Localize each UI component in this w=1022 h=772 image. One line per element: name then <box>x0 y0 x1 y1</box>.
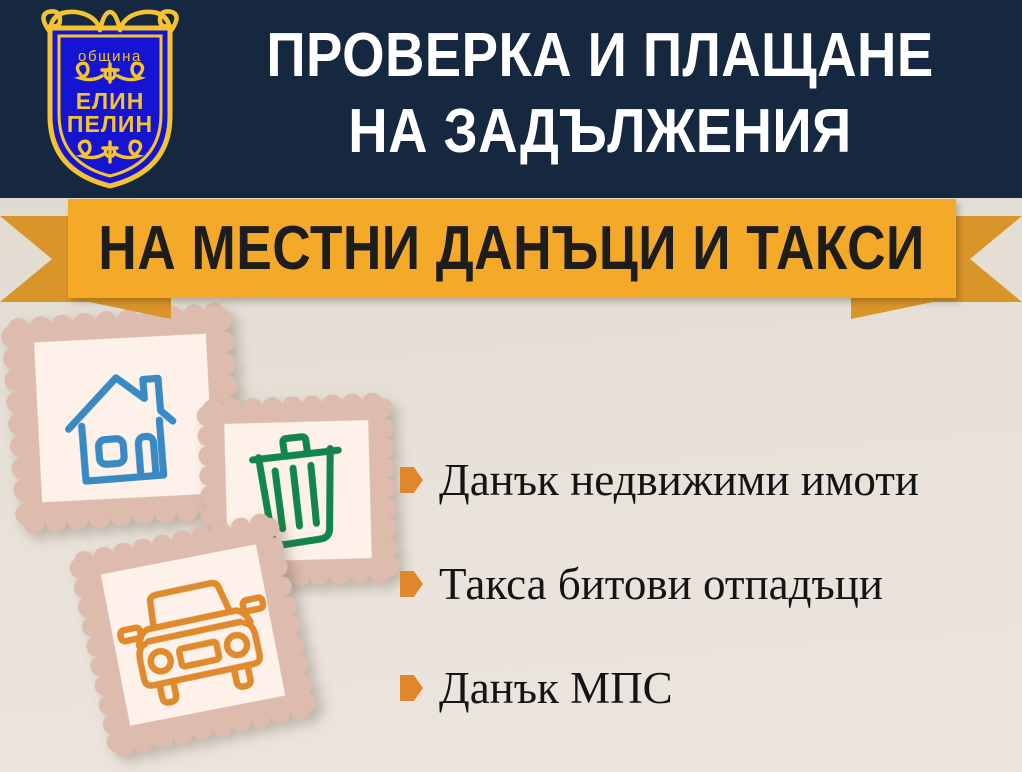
subtitle-ribbon: НА МЕСТНИ ДАНЪЦИ И ТАКСИ <box>0 196 1022 306</box>
tax-list-item-label: Данък недвижими имоти <box>439 454 919 506</box>
coat-of-arms: община ЕЛИН ПЕЛИН <box>30 6 190 191</box>
crest-name-line2: ПЕЛИН <box>67 111 153 137</box>
page-title: ПРОВЕРКА И ПЛАЩАНЕ НА ЗАДЪЛЖЕНИЯ <box>239 18 961 170</box>
stamp-card-car <box>67 510 320 760</box>
tax-list: Данък недвижими имоти Такса битови отпад… <box>400 428 1010 740</box>
arrow-bullet-icon <box>400 675 423 701</box>
tax-list-item-label: Данък МПС <box>439 662 673 714</box>
tax-list-item-waste[interactable]: Такса битови отпадъци <box>400 532 1010 636</box>
ribbon-label: НА МЕСТНИ ДАНЪЦИ И ТАКСИ <box>99 218 926 280</box>
page-title-line-1: ПРОВЕРКА И ПЛАЩАНЕ <box>239 18 961 94</box>
page-title-line-2: НА ЗАДЪЛЖЕНИЯ <box>239 94 961 170</box>
ribbon-plate: НА МЕСТНИ ДАНЪЦИ И ТАКСИ <box>68 199 956 298</box>
poster-canvas: община ЕЛИН ПЕЛИН <box>0 0 1022 772</box>
tax-list-item-vehicle[interactable]: Данък МПС <box>400 636 1010 740</box>
arrow-bullet-icon <box>400 467 423 493</box>
tax-list-item-label: Такса битови отпадъци <box>439 558 883 610</box>
arrow-bullet-icon <box>400 571 423 597</box>
header-bar: община ЕЛИН ПЕЛИН <box>0 0 1022 198</box>
tax-list-item-property[interactable]: Данък недвижими имоти <box>400 428 1010 532</box>
